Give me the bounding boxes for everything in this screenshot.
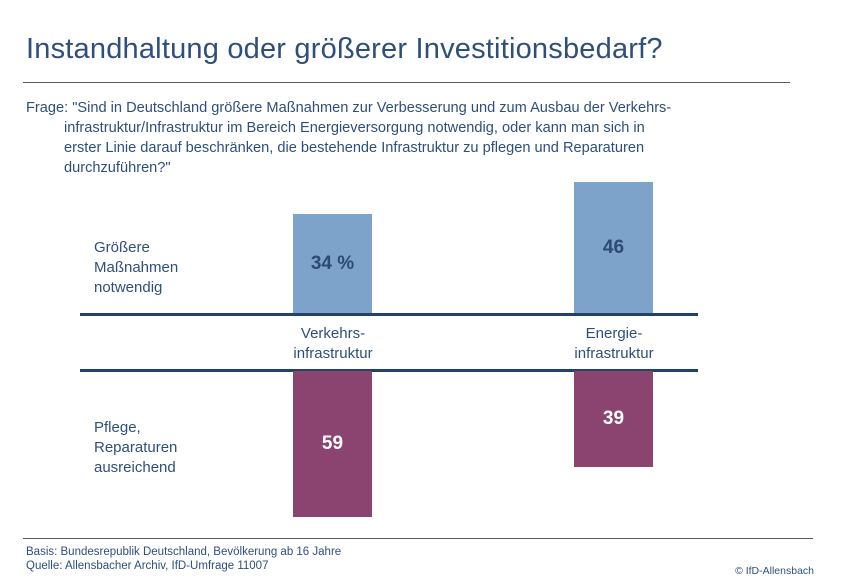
category-label-line-2: infrastruktur xyxy=(524,344,704,364)
footer-divider xyxy=(23,538,813,539)
chart-page: Instandhaltung oder größerer Investition… xyxy=(0,0,858,583)
footnote-source: Quelle: Allensbacher Archiv, IfD-Umfrage… xyxy=(26,559,341,573)
bar-groessere-massnahmen-verkehr[interactable]: 34 % xyxy=(293,214,372,313)
bar-chart: Größere Maßnahmen notwendig 34 % 46 Verk… xyxy=(0,0,858,583)
series-label-groessere-massnahmen: Größere Maßnahmen notwendig xyxy=(94,238,274,298)
series-label-line-3: notwendig xyxy=(94,278,274,298)
bar-pflege-reparaturen-verkehr[interactable]: 59 xyxy=(293,371,372,517)
series-label-pflege-reparaturen: Pflege, Reparaturen ausreichend xyxy=(94,418,274,478)
bar-groessere-massnahmen-energie[interactable]: 46 xyxy=(574,182,653,313)
series-label-line-1: Pflege, xyxy=(94,418,274,438)
copyright-label: © IfD-Allensbach xyxy=(735,565,814,578)
axis-line-upper xyxy=(80,313,698,316)
bar-value-label: 34 % xyxy=(293,253,372,275)
footnote-basis: Basis: Bundesrepublik Deutschland, Bevöl… xyxy=(26,545,341,559)
category-label-line-2: infrastruktur xyxy=(243,344,423,364)
series-label-line-2: Reparaturen xyxy=(94,438,274,458)
footnote-block: Basis: Bundesrepublik Deutschland, Bevöl… xyxy=(26,545,341,573)
bar-value-label: 39 xyxy=(574,408,653,430)
series-label-line-1: Größere xyxy=(94,238,274,258)
bar-pflege-reparaturen-energie[interactable]: 39 xyxy=(574,371,653,467)
category-label-line-1: Energie- xyxy=(524,324,704,344)
bar-value-label: 46 xyxy=(574,237,653,259)
category-label-line-1: Verkehrs- xyxy=(243,324,423,344)
category-label-verkehrsinfrastruktur: Verkehrs- infrastruktur xyxy=(243,324,423,364)
bar-value-label: 59 xyxy=(293,433,372,455)
series-label-line-2: Maßnahmen xyxy=(94,258,274,278)
series-label-line-3: ausreichend xyxy=(94,458,274,478)
category-label-energieinfrastruktur: Energie- infrastruktur xyxy=(524,324,704,364)
